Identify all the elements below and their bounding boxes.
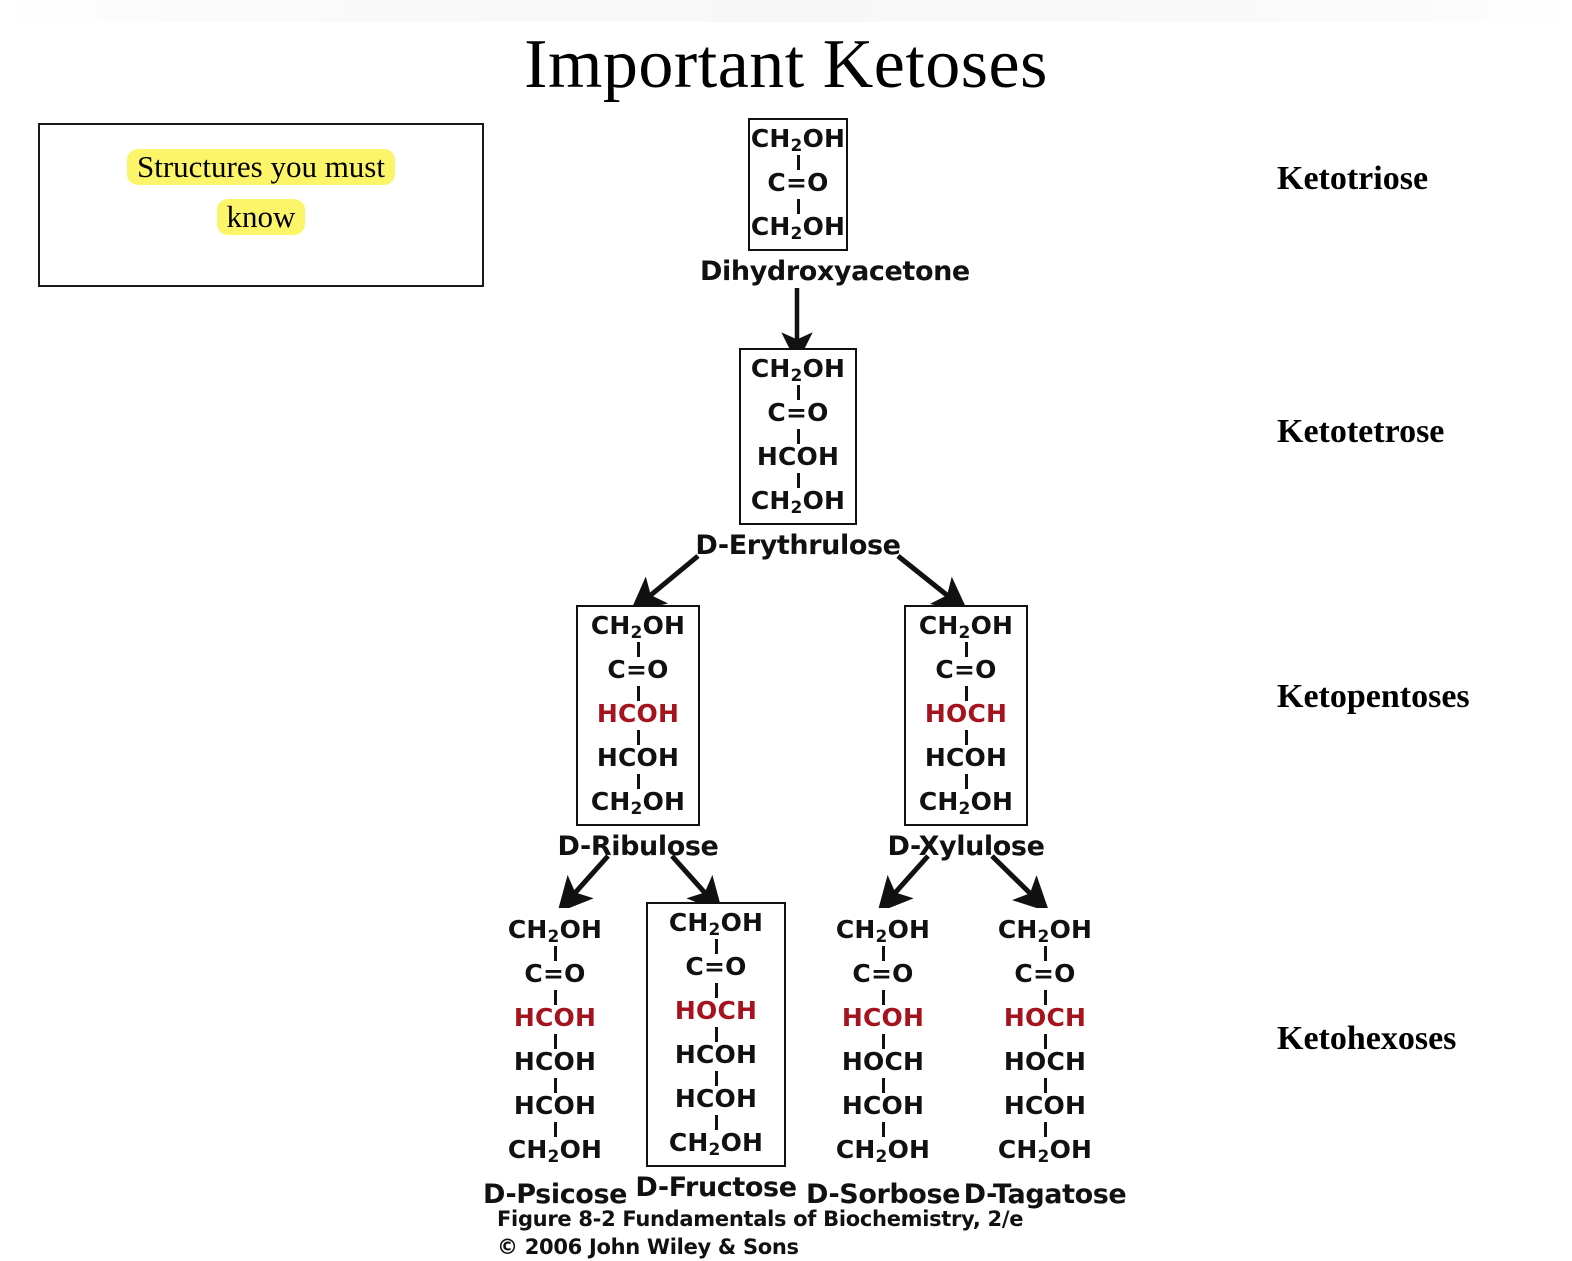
chain-group: CH2OH [750, 126, 846, 155]
molecule-frame: CH2OHC=OHOCHHCOHCH2OH [904, 605, 1028, 826]
chain-group: HCOH [492, 1005, 618, 1034]
chain-group: C=O [578, 657, 698, 686]
callout-highlight-2: know [217, 199, 306, 235]
molecule-d-sorbose: CH2OHC=OHCOHHOCHHCOHCH2OH D-Sorbose [790, 908, 976, 1210]
molecule-d-ribulose: CH2OHC=OHCOHHCOHCH2OH D-Ribulose [520, 605, 756, 862]
chain-bond [882, 1122, 885, 1137]
chain-group: CH2OH [741, 356, 855, 385]
chain-group: HCOH [648, 1086, 784, 1115]
chain-group: HOCH [906, 701, 1026, 730]
molecule-label: Dihydroxyacetone [700, 256, 896, 287]
chain-group: CH2OH [906, 789, 1026, 818]
molecule-frame: CH2OHC=OHCOHHCOHHCOHCH2OH [492, 908, 618, 1174]
chain-group: HCOH [741, 444, 855, 473]
top-background-band [0, 0, 1572, 22]
category-label-ketohexoses: Ketohexoses [1277, 1020, 1456, 1058]
chain-group: CH2OH [820, 1137, 946, 1166]
chain-group: C=O [492, 961, 618, 990]
chain-group: HCOH [492, 1093, 618, 1122]
chain-group: CH2OH [750, 214, 846, 243]
chain-bond [797, 199, 800, 214]
category-label-ketotetrose: Ketotetrose [1277, 413, 1444, 451]
molecule-d-xylulose: CH2OHC=OHOCHHCOHCH2OH D-Xylulose [848, 605, 1084, 862]
callout-line-2: know [40, 199, 482, 235]
molecule-d-erythrulose: CH2OHC=OHCOHCH2OH D-Erythrulose [680, 348, 916, 561]
molecule-d-psicose: CH2OHC=OHCOHHCOHHCOHCH2OH D-Psicose [462, 908, 648, 1210]
chain-bond [797, 473, 800, 488]
page-title: Important Ketoses [0, 26, 1572, 103]
chain-bond [554, 1122, 557, 1137]
chain-group: CH2OH [820, 917, 946, 946]
molecule-frame: CH2OHC=OHOCHHCOHHCOHCH2OH [646, 902, 786, 1167]
chain-group: CH2OH [648, 1130, 784, 1159]
callout-line-1: Structures you must [40, 149, 482, 185]
molecule-d-fructose: CH2OHC=OHOCHHCOHHCOHCH2OH D-Fructose [634, 902, 798, 1203]
chain-bond [1044, 1122, 1047, 1137]
caption-line-2: © 2006 John Wiley & Sons [497, 1234, 1023, 1261]
chain-group: HCOH [578, 701, 698, 730]
chain-group: CH2OH [578, 789, 698, 818]
chain-group: HCOH [820, 1093, 946, 1122]
molecule-frame: CH2OHC=OCH2OH [748, 118, 848, 251]
chain-group: HOCH [820, 1049, 946, 1078]
molecule-d-tagatose: CH2OHC=OHOCHHOCHHCOHCH2OH D-Tagatose [952, 908, 1138, 1210]
molecule-label: D-Erythrulose [680, 530, 916, 561]
chain-group: HOCH [982, 1049, 1108, 1078]
chain-group: HCOH [906, 745, 1026, 774]
chain-group: CH2OH [982, 917, 1108, 946]
molecule-frame: CH2OHC=OHOCHHOCHHCOHCH2OH [982, 908, 1108, 1174]
molecule-dihydroxyacetone: CH2OHC=OCH2OH Dihydroxyacetone [700, 118, 896, 287]
chain-group: C=O [648, 954, 784, 983]
figure-caption: Figure 8-2 Fundamentals of Biochemistry,… [497, 1206, 1023, 1261]
chain-group: CH2OH [741, 488, 855, 517]
molecule-label: D-Fructose [634, 1172, 798, 1203]
molecule-label: D-Xylulose [848, 831, 1084, 862]
category-label-ketotriose: Ketotriose [1277, 160, 1428, 198]
callout-highlight-1: Structures you must [127, 149, 395, 185]
chain-bond [965, 774, 968, 789]
chain-group: HOCH [982, 1005, 1108, 1034]
chain-group: CH2OH [492, 917, 618, 946]
chain-bond [715, 1115, 718, 1130]
chain-group: HCOH [578, 745, 698, 774]
chain-group: HCOH [492, 1049, 618, 1078]
chain-bond [637, 774, 640, 789]
molecule-frame: CH2OHC=OHCOHCH2OH [739, 348, 857, 525]
category-label-ketopentoses: Ketopentoses [1277, 678, 1470, 716]
chain-group: CH2OH [648, 910, 784, 939]
molecule-frame: CH2OHC=OHCOHHOCHHCOHCH2OH [820, 908, 946, 1174]
caption-line-1: Figure 8-2 Fundamentals of Biochemistry,… [497, 1206, 1023, 1234]
callout-box: Structures you must know [38, 123, 484, 287]
chain-group: CH2OH [906, 613, 1026, 642]
chain-group: HOCH [648, 998, 784, 1027]
chain-group: CH2OH [982, 1137, 1108, 1166]
chain-group: HCOH [820, 1005, 946, 1034]
molecule-label: D-Ribulose [520, 831, 756, 862]
chain-group: C=O [741, 400, 855, 429]
chain-group: CH2OH [492, 1137, 618, 1166]
chain-group: CH2OH [578, 613, 698, 642]
molecule-frame: CH2OHC=OHCOHHCOHCH2OH [576, 605, 700, 826]
chain-group: C=O [906, 657, 1026, 686]
chain-group: C=O [820, 961, 946, 990]
chain-group: HCOH [982, 1093, 1108, 1122]
chain-group: C=O [982, 961, 1108, 990]
chain-group: C=O [750, 170, 846, 199]
chain-group: HCOH [648, 1042, 784, 1071]
